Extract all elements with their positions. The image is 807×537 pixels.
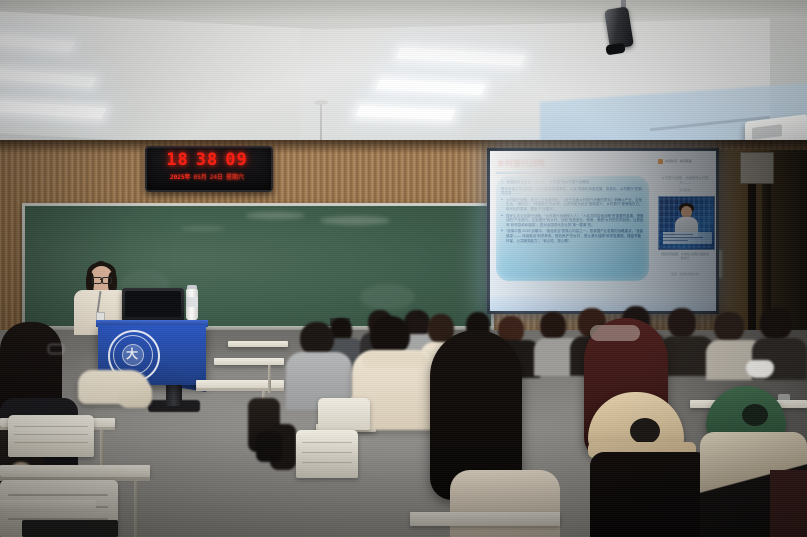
chair-slat — [8, 494, 108, 496]
chair-slat — [302, 452, 352, 453]
student-glasses-icon — [48, 344, 64, 354]
cap-logo-icon — [778, 394, 790, 402]
face-mask-icon — [746, 360, 774, 378]
desk[interactable] — [214, 358, 284, 365]
instructor-glasses-icon — [102, 277, 112, 284]
student-body-below-cap — [590, 452, 710, 537]
lecture-hall-photo: 18 38 09 2025年 05月 24日 星期六 乡村振兴战略 3、我国新型… — [0, 0, 807, 537]
desk[interactable] — [410, 512, 560, 526]
chair[interactable] — [296, 430, 358, 478]
instructor-glasses-bridge — [100, 279, 103, 280]
university-seal-letter: 大 — [126, 346, 138, 362]
chair-slat — [14, 442, 88, 443]
hair-clip-icon — [590, 325, 640, 341]
cap-back-opening — [630, 418, 660, 444]
student-shoulders — [450, 470, 560, 537]
student-head — [668, 308, 696, 338]
chair[interactable] — [318, 398, 370, 430]
cap-back-opening — [742, 404, 768, 426]
desk[interactable] — [228, 341, 288, 347]
chair-slat — [302, 462, 352, 463]
student-head — [760, 308, 792, 340]
desk[interactable] — [0, 500, 96, 512]
student-edge — [770, 470, 807, 537]
draped-coat-fold — [118, 382, 152, 408]
jacket-hood — [362, 352, 426, 368]
desk-leg — [268, 365, 271, 393]
bag — [256, 432, 282, 462]
desk[interactable] — [0, 465, 150, 477]
student-head — [540, 312, 566, 340]
chair-slat — [302, 442, 352, 443]
student-head — [300, 322, 334, 356]
bottle-label — [186, 297, 198, 307]
chair-seat[interactable] — [22, 520, 118, 537]
chair-slat — [14, 426, 88, 427]
chair-slat — [14, 434, 88, 435]
monitor-screen[interactable] — [125, 291, 181, 317]
student-head — [714, 312, 744, 342]
desk-leg — [134, 481, 139, 537]
ceiling-band — [0, 0, 807, 20]
chair[interactable] — [8, 415, 94, 457]
ceiling — [0, 0, 807, 150]
